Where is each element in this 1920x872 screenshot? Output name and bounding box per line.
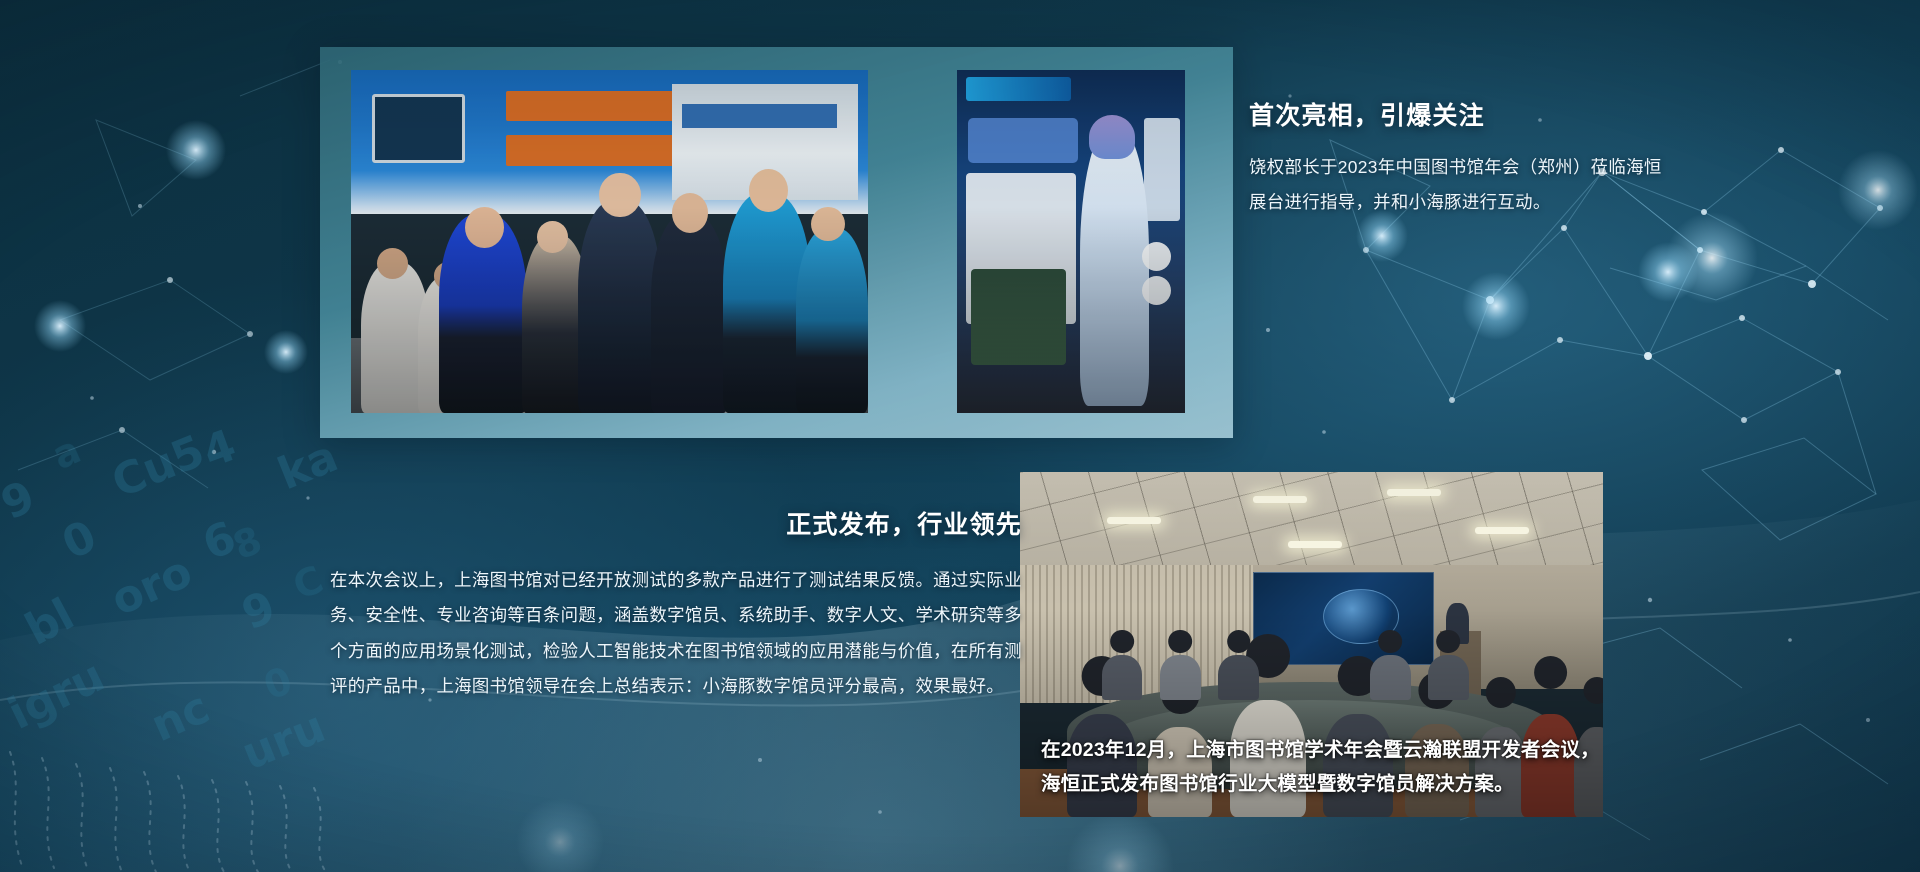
caption-line-2: 海恒正式发布图书馆行业大模型暨数字馆员解决方案。 [1041,768,1601,802]
release-text-block: 正式发布，行业领先 在本次会议上，上海图书馆对已经开放测试的多款产品进行了测试结… [330,505,1022,704]
debut-text-block: 首次亮相，引爆关注 饶权部长于2023年中国图书馆年会（郑州）莅临海恒展台进行指… [1249,96,1669,221]
caption-line-1: 在2023年12月，上海市图书馆学术年会暨云瀚联盟开发者会议， [1041,734,1601,768]
release-section-body: 在本次会议上，上海图书馆对已经开放测试的多款产品进行了测试结果反馈。通过实际业务… [330,563,1022,704]
release-section-title: 正式发布，行业领先 [330,505,1022,541]
debut-section-title: 首次亮相，引爆关注 [1249,96,1669,132]
digital-avatar-kiosk-photo [957,70,1185,413]
debut-section-body: 饶权部长于2023年中国图书馆年会（郑州）莅临海恒展台进行指导，并和小海豚进行互… [1249,150,1669,221]
exhibition-crowd-photo [351,70,868,413]
conference-photo-caption: 在2023年12月，上海市图书馆学术年会暨云瀚联盟开发者会议， 海恒正式发布图书… [1041,734,1601,801]
page-stage: 9 0 Cu5 bl oro 6 9 igru nc uru 4 ka 8 0 … [0,0,1920,872]
